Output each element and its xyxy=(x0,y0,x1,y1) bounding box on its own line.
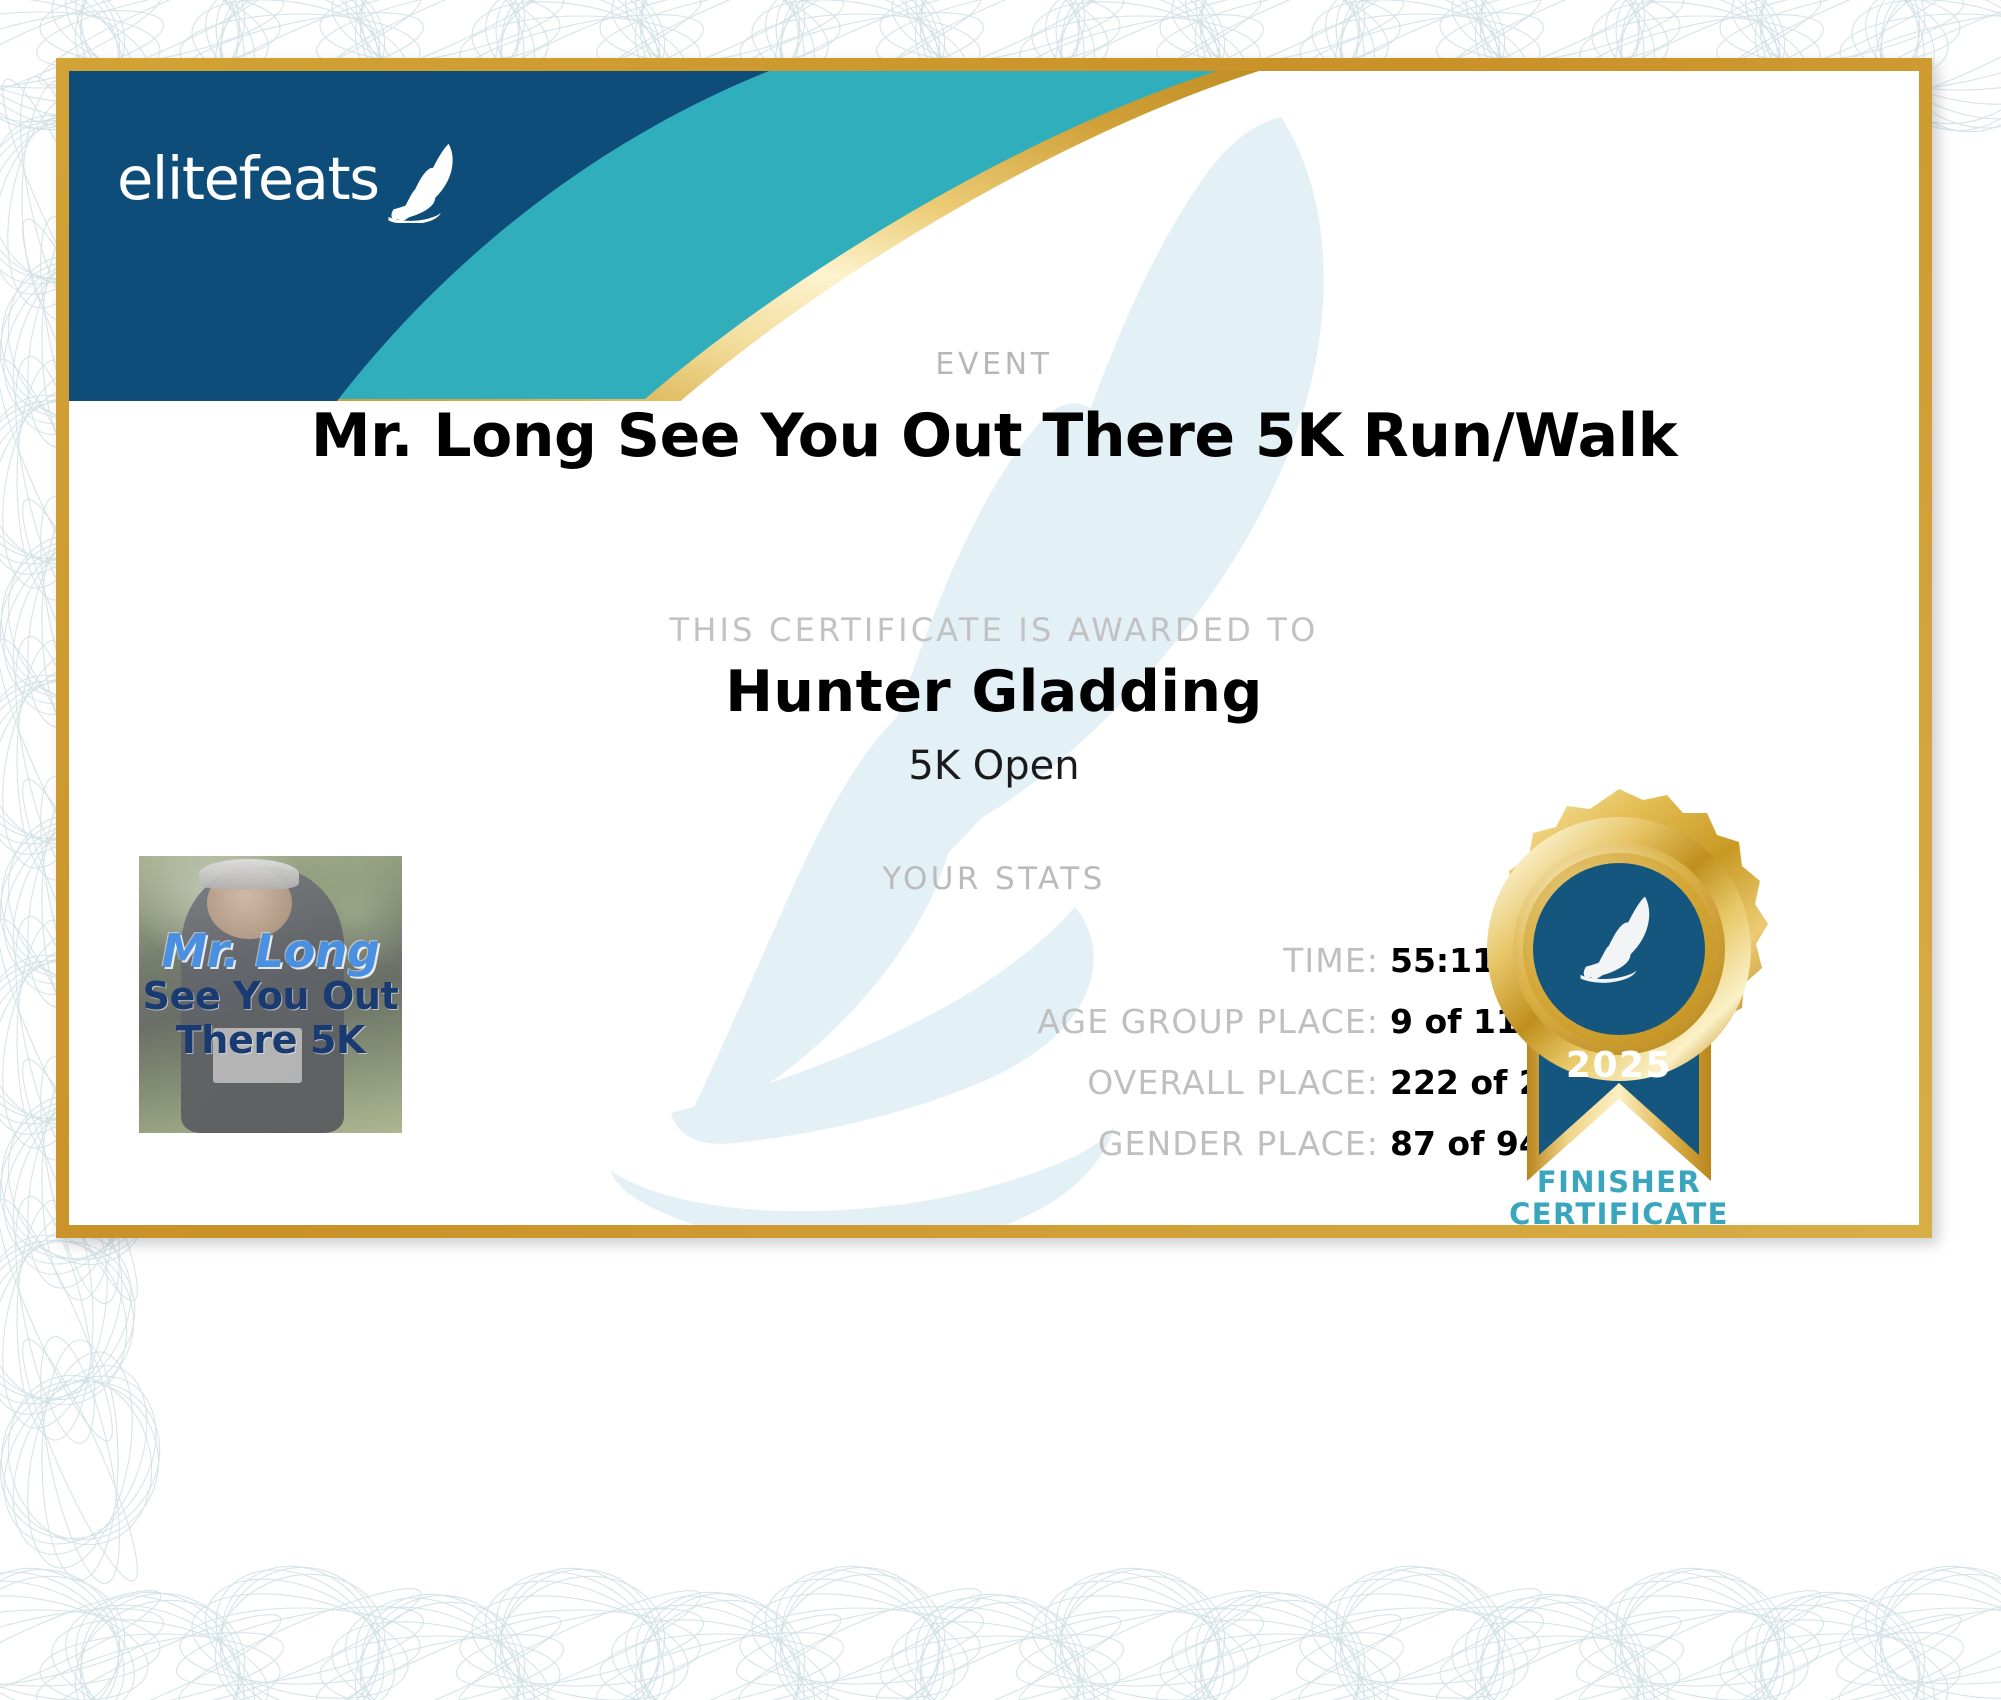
event-label: EVENT xyxy=(69,347,1919,382)
seal-caption: FINISHER CERTIFICATE xyxy=(1454,1166,1784,1225)
event-title: Mr. Long See You Out There 5K Run/Walk xyxy=(69,401,1919,471)
stat-key-gender-place: GENDER PLACE: xyxy=(959,1124,1379,1163)
stat-key-age-group-place: AGE GROUP PLACE: xyxy=(959,1002,1379,1041)
race-logo-line-1: Mr. Long xyxy=(162,928,380,974)
race-logo-text: Mr. Long See You Out There 5K xyxy=(139,856,402,1133)
certificate-card-inner: elitefeats xyxy=(69,71,1919,1225)
seal-caption-line-1: FINISHER xyxy=(1454,1166,1784,1198)
seal-year: 2025 xyxy=(1566,1045,1672,1086)
recipient-name: Hunter Gladding xyxy=(69,659,1919,725)
race-logo-line-2: See You Out xyxy=(143,976,399,1017)
race-logo-line-3: There 5K xyxy=(176,1020,365,1061)
certificate-page: elitefeats xyxy=(0,0,2001,1700)
seal-caption-line-2: CERTIFICATE xyxy=(1454,1198,1784,1225)
awarded-to-label: THIS CERTIFICATE IS AWARDED TO xyxy=(69,611,1919,649)
race-logo-image: Mr. Long See You Out There 5K xyxy=(139,856,402,1133)
stat-key-time: TIME: xyxy=(959,941,1379,980)
certificate-body: EVENT Mr. Long See You Out There 5K Run/… xyxy=(69,71,1919,1225)
stat-key-overall-place: OVERALL PLACE: xyxy=(959,1063,1379,1102)
certificate-card: elitefeats xyxy=(56,58,1932,1238)
finisher-medal-seal: 2025 xyxy=(1454,781,1784,1201)
